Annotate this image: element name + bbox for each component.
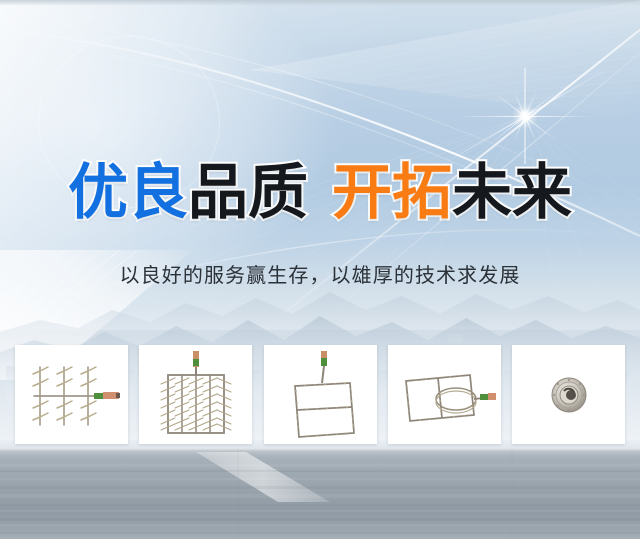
headline-part-weilai: 未来 [452, 163, 572, 223]
headline-part-kaituo: 开拓 [332, 163, 452, 223]
branched-hanger-rack-icon [20, 353, 124, 437]
promo-banner: 优良品质开拓未来 以良好的服务赢生存，以雄厚的技术求发展 [0, 0, 640, 539]
square-ring-rack-icon [392, 359, 496, 431]
page-subtitle: 以良好的服务赢生存，以雄厚的技术求发展 [0, 259, 640, 288]
headline-part-pinzhi: 品质 [188, 163, 308, 223]
product-card-5[interactable] [512, 345, 625, 444]
page-title: 优良品质开拓未来 [0, 163, 640, 223]
product-card-1[interactable] [15, 345, 128, 444]
product-card-row [15, 345, 625, 444]
product-card-4[interactable] [388, 345, 501, 444]
radial-starburst-rack-icon [523, 349, 615, 441]
rectangular-frame-rack-icon [277, 349, 363, 441]
concrete-ground [0, 448, 640, 539]
product-card-3[interactable] [264, 345, 377, 444]
product-card-2[interactable] [139, 345, 252, 444]
headline-part-youliang: 优良 [68, 163, 188, 223]
dense-tooth-rack-icon [151, 349, 241, 441]
